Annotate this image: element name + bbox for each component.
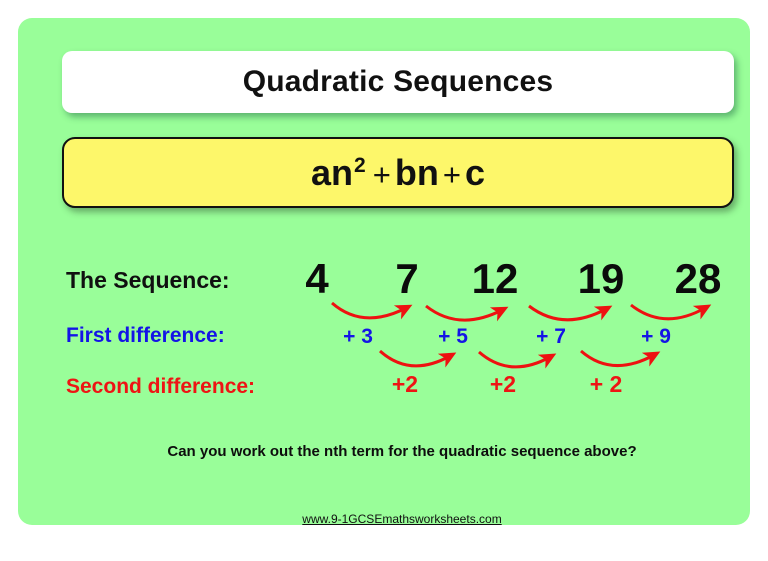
second-difference-value: +2 <box>468 373 538 396</box>
sequence-term: 12 <box>460 258 530 300</box>
sequence-term: 19 <box>566 258 636 300</box>
formula-operator-2: + <box>443 157 461 192</box>
formula-card: an2+bn+c <box>62 137 734 208</box>
curved-arrow-icon <box>426 306 502 320</box>
sequence-term: 28 <box>663 258 733 300</box>
second-difference-value: + 2 <box>571 373 641 396</box>
sequence-term: 4 <box>282 258 352 300</box>
curved-arrow-icon <box>380 351 450 366</box>
curved-arrow-icon <box>479 352 550 367</box>
formula-term-2: bn <box>395 152 439 193</box>
formula-term-3: c <box>465 152 485 193</box>
green-content-panel: Quadratic Sequences an2+bn+c The Sequenc… <box>18 18 750 525</box>
worksheet-canvas: Quadratic Sequences an2+bn+c The Sequenc… <box>0 0 768 543</box>
sequence-row-label: The Sequence: <box>66 267 230 294</box>
source-url-link[interactable]: www.9-1GCSEmathsworksheets.com <box>18 512 768 526</box>
quadratic-formula: an2+bn+c <box>311 155 485 191</box>
curved-arrow-icon <box>631 305 705 319</box>
question-prompt: Can you work out the nth term for the qu… <box>18 443 768 460</box>
curved-arrow-icon <box>581 351 654 366</box>
first-difference-value: + 3 <box>323 326 393 347</box>
title-card: Quadratic Sequences <box>62 51 734 113</box>
formula-base: an <box>311 152 353 193</box>
first-difference-value: + 5 <box>418 326 488 347</box>
first-difference-row-label: First difference: <box>66 324 225 348</box>
first-difference-value: + 7 <box>516 326 586 347</box>
first-difference-value: + 9 <box>621 326 691 347</box>
page-title: Quadratic Sequences <box>243 65 554 99</box>
curved-arrow-icon <box>332 303 406 318</box>
second-difference-value: +2 <box>370 373 440 396</box>
formula-exponent: 2 <box>354 154 366 177</box>
sequence-term: 7 <box>372 258 442 300</box>
curved-arrow-icon <box>529 306 606 320</box>
second-difference-row-label: Second difference: <box>66 375 255 399</box>
formula-operator-1: + <box>373 157 391 192</box>
